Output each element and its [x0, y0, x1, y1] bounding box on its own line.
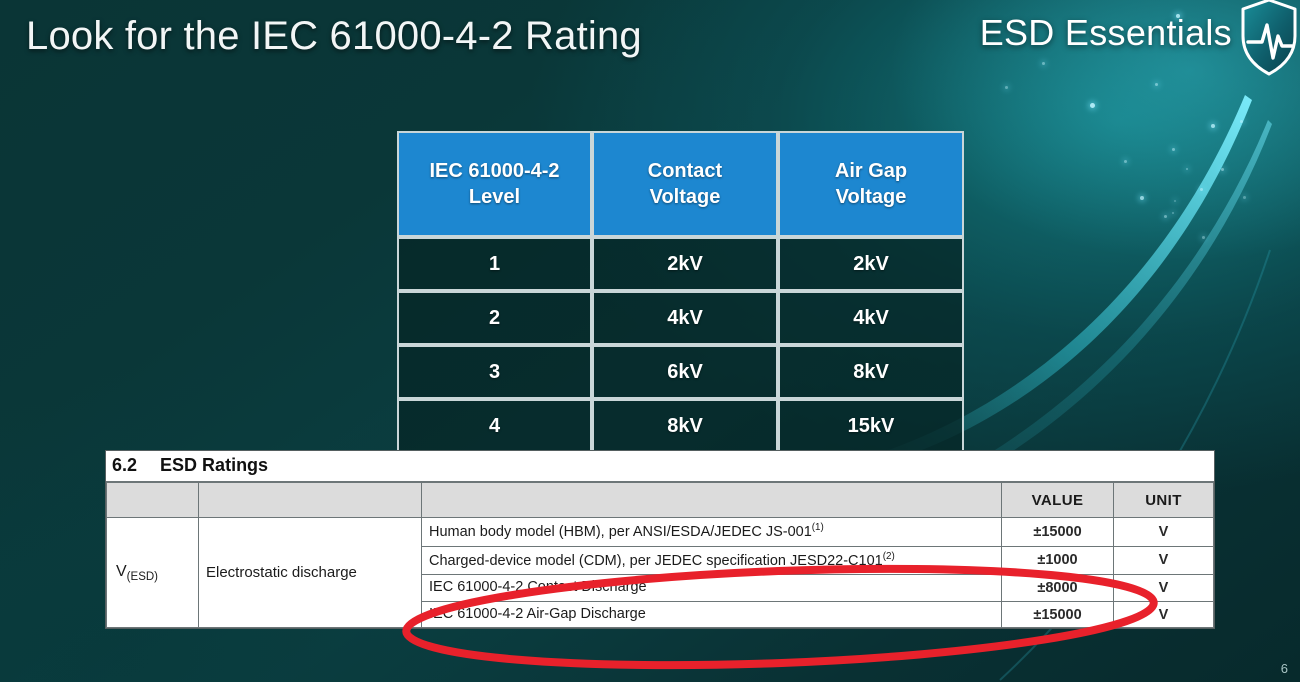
symbol-subscript: (ESD): [127, 571, 158, 583]
cell-contact: 2kV: [592, 237, 778, 291]
sparkle-dot: [1200, 188, 1203, 191]
sparkle-dot: [1172, 212, 1174, 214]
blank-header-description: [422, 483, 1002, 518]
sparkle-dot: [1140, 196, 1144, 200]
sparkle-dot: [1221, 168, 1224, 171]
cell-airgap: 8kV: [778, 345, 964, 399]
table-row: 2 4kV 4kV: [397, 291, 964, 345]
cell-unit: V: [1114, 546, 1214, 575]
cell-parameter: Electrostatic discharge: [199, 518, 422, 628]
cell-value: ±15000: [1002, 518, 1114, 547]
sparkle-dot: [1155, 83, 1158, 86]
table-row: 1 2kV 2kV: [397, 237, 964, 291]
sparkle-dot: [1202, 236, 1205, 239]
sparkle-dot: [1005, 86, 1008, 89]
column-header-air-gap-voltage: Air Gap Voltage: [778, 131, 964, 237]
sparkle-dot: [1240, 120, 1243, 123]
column-header-value: VALUE: [1002, 483, 1114, 518]
blank-header-symbol: [107, 483, 199, 518]
cell-value: ±15000: [1002, 601, 1114, 628]
sparkle-dot: [1174, 200, 1176, 202]
shield-pulse-icon: [1240, 0, 1298, 78]
blank-header-parameter: [199, 483, 422, 518]
sparkle-dot: [1211, 124, 1215, 128]
cell-contact: 8kV: [592, 399, 778, 453]
cell-symbol: V(ESD): [107, 518, 199, 628]
cell-unit: V: [1114, 601, 1214, 628]
cell-description: Human body model (HBM), per ANSI/ESDA/JE…: [422, 518, 1002, 547]
section-title: ESD Ratings: [160, 455, 268, 475]
cell-level: 4: [397, 399, 592, 453]
footnote-marker: (2): [883, 551, 895, 562]
sparkle-dot: [1164, 215, 1167, 218]
slide-title: Look for the IEC 61000-4-2 Rating: [26, 14, 642, 59]
sparkle-dot: [1042, 62, 1045, 65]
cell-airgap: 2kV: [778, 237, 964, 291]
cell-unit: V: [1114, 575, 1214, 602]
cell-airgap: 15kV: [778, 399, 964, 453]
cell-description: IEC 61000-4-2 Air-Gap Discharge: [422, 601, 1002, 628]
cell-value: ±8000: [1002, 575, 1114, 602]
cell-value: ±1000: [1002, 546, 1114, 575]
cell-level: 1: [397, 237, 592, 291]
table-row: 3 6kV 8kV: [397, 345, 964, 399]
iec-level-table: IEC 61000-4-2 Level Contact Voltage Air …: [397, 131, 964, 453]
section-number: 6.2: [112, 455, 137, 475]
cell-level: 3: [397, 345, 592, 399]
cell-unit: V: [1114, 518, 1214, 547]
table-row: 4 8kV 15kV: [397, 399, 964, 453]
brand-wordmark: ESD Essentials: [980, 12, 1232, 54]
cell-description: IEC 61000-4-2 Contact Discharge: [422, 575, 1002, 602]
esd-ratings-table: VALUE UNIT V(ESD) Electrostatic discharg…: [106, 482, 1214, 628]
cell-description: Charged-device model (CDM), per JEDEC sp…: [422, 546, 1002, 575]
cell-contact: 4kV: [592, 291, 778, 345]
sparkle-dot: [1090, 103, 1095, 108]
cell-airgap: 4kV: [778, 291, 964, 345]
footnote-marker: (1): [812, 522, 824, 533]
datasheet-section-heading: 6.2 ESD Ratings: [106, 451, 1214, 482]
sparkle-dot: [1172, 148, 1175, 151]
table-header-row: IEC 61000-4-2 Level Contact Voltage Air …: [397, 131, 964, 237]
slide-canvas: Look for the IEC 61000-4-2 Rating ESD Es…: [0, 0, 1300, 682]
datasheet-header-row: VALUE UNIT: [107, 483, 1214, 518]
page-number: 6: [1281, 661, 1288, 676]
column-header-unit: UNIT: [1114, 483, 1214, 518]
table-row: V(ESD) Electrostatic discharge Human bod…: [107, 518, 1214, 547]
sparkle-dot: [1243, 196, 1246, 199]
datasheet-snippet: 6.2 ESD Ratings VALUE UNIT V(ESD): [105, 450, 1215, 629]
sparkle-dot: [1124, 160, 1127, 163]
sparkle-dot: [1186, 168, 1188, 170]
column-header-contact-voltage: Contact Voltage: [592, 131, 778, 237]
cell-contact: 6kV: [592, 345, 778, 399]
column-header-level: IEC 61000-4-2 Level: [397, 131, 592, 237]
cell-level: 2: [397, 291, 592, 345]
